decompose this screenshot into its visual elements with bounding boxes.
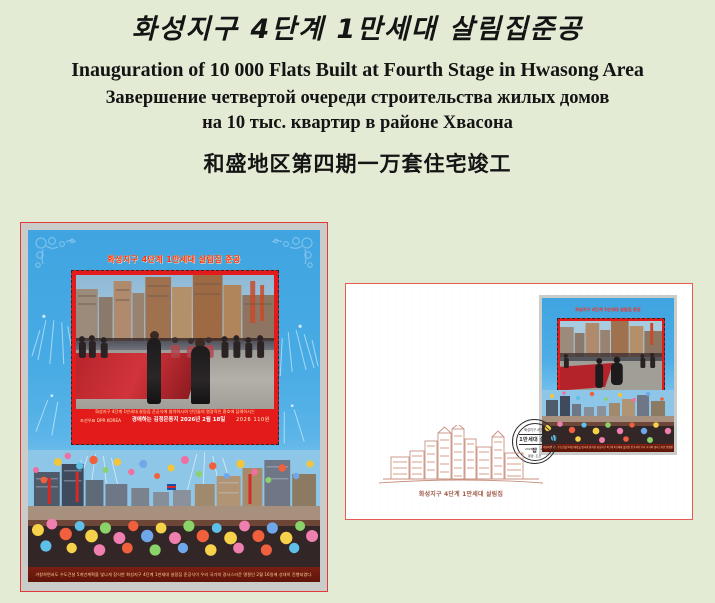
fdc-sheet-footer-text: 거창하면서도 수도건설 5개년계획을 빛나게 장식한 화성지구 4단계 1만세대… <box>542 444 674 452</box>
sheet-footer-text: 거창하면서도 수도건설 5개년계획을 빛나게 장식한 화성지구 4단계 1만세대… <box>28 567 320 582</box>
souvenir-sheet: 화성지구 4단계 1만세대 살림집 준공 <box>20 222 328 592</box>
crowd-silhouette-image <box>76 331 274 365</box>
stamp-photograph <box>76 275 274 409</box>
stamp-leader-label: 경애하는 김정은동지 2026년 2월 18일 <box>132 416 225 424</box>
stamp-caption-line1: 화성지구 4단계 1만세대 살림집 준공식에 참석하시여 인민들의 열광적인 환… <box>76 409 274 415</box>
fdc-sheet-banner: 화성지구 4단계 1만세대 살림집 준공 <box>542 307 674 313</box>
fdc-crowd-balloons-image <box>542 390 674 452</box>
page-header: 화성지구 4단계 1만세대 살림집준공 Inauguration of 10 0… <box>0 0 715 178</box>
figure-right <box>191 338 210 404</box>
fdc-crowd-scene: 거창하면서도 수도건설 5개년계획을 빛나게 장식한 화성지구 4단계 1만세대… <box>542 390 674 452</box>
title-russian: Завершение четвертой очереди строительст… <box>0 86 715 135</box>
stamp-country-label: 조선우표 DPR KOREA <box>80 418 121 424</box>
stamp-caption: 화성지구 4단계 1만세대 살림집 준공식에 참석하시여 인민들의 열광적인 환… <box>76 407 274 440</box>
souvenir-sheet-face: 화성지구 4단계 1만세대 살림집 준공 <box>28 230 320 582</box>
cachet-caption: 화성지구 4단계 1만세대 살림집 <box>377 489 545 498</box>
first-day-cover: 화성지구 4단계 1만세대 살림집 준공 <box>345 283 693 520</box>
crowd-balloons-image <box>28 450 320 582</box>
title-chinese: 和盛地区第四期一万套住宅竣工 <box>0 148 715 178</box>
fdc-stamp-scene-image <box>560 321 662 391</box>
cachet-skyline-icon <box>377 425 545 487</box>
stamp-denomination: 2026 110원 <box>236 417 270 425</box>
fdc-cachet: 화성지구 4단계 1만세대 살림집 <box>377 425 545 498</box>
fdc-stamp-photograph <box>560 321 662 391</box>
title-english: Inauguration of 10 000 Flats Built at Fo… <box>0 59 715 82</box>
fdc-face: 화성지구 4단계 1만세대 살림집 준공 <box>349 287 689 516</box>
title-russian-line2: на 10 тыс. квартир в районе Хвасона <box>26 111 689 135</box>
fdc-affixed-sheet: 화성지구 4단계 1만세대 살림집 준공 <box>539 295 677 455</box>
fdc-affixed-sheet-face: 화성지구 4단계 1만세대 살림집 준공 <box>542 298 674 452</box>
celebration-crowd-scene: 거창하면서도 수도건설 5개년계획을 빛나게 장식한 화성지구 4단계 1만세대… <box>28 450 320 582</box>
postage-stamp: 화성지구 4단계 1만세대 살림집 준공식에 참석하시여 인민들의 열광적인 환… <box>71 270 279 445</box>
title-korean: 화성지구 4단계 1만세대 살림집준공 <box>0 10 715 49</box>
figure-left <box>147 331 161 404</box>
title-russian-line1: Завершение четвертой очереди строительст… <box>26 86 689 110</box>
